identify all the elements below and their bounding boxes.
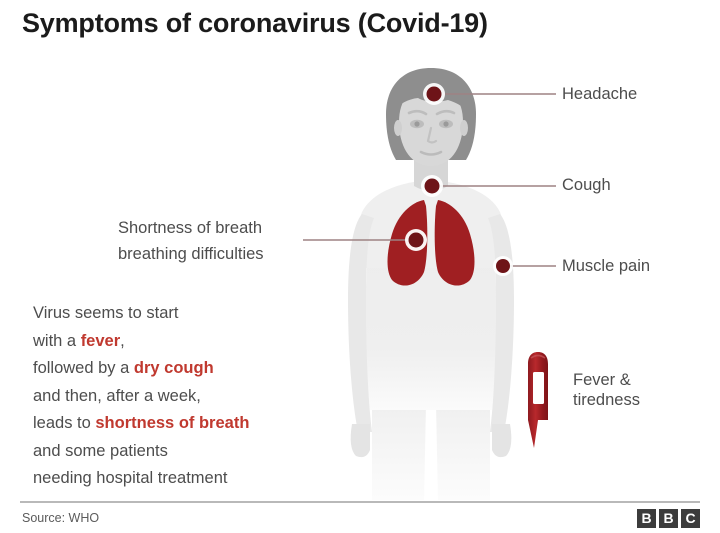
infographic-page: Symptoms of coronavirus (Covid-19) xyxy=(0,0,720,533)
thermometer-icon xyxy=(528,352,548,448)
marker-headache xyxy=(427,87,442,102)
bbc-logo: B B C xyxy=(637,509,700,528)
marker-shortness-of-breath xyxy=(409,233,424,248)
description-line-5: leads to shortness of breath xyxy=(33,410,249,438)
callout-label-muscle-pain: Muscle pain xyxy=(562,256,650,276)
footer-divider xyxy=(20,501,700,503)
callout-label-headache: Headache xyxy=(562,84,637,104)
bbc-logo-letter-1: B xyxy=(637,509,656,528)
description-line-2: with a fever, xyxy=(33,328,249,356)
description-text: Virus seems to start with a fever, follo… xyxy=(33,300,249,493)
text-fragment: with a xyxy=(33,332,81,350)
text-fragment: , xyxy=(120,332,125,350)
text-fragment: leads to xyxy=(33,414,95,432)
callout-label-cough: Cough xyxy=(562,175,611,195)
source-attribution: Source: WHO xyxy=(22,511,99,525)
description-line-6: and some patients xyxy=(33,438,249,466)
marker-muscle-pain xyxy=(496,259,510,273)
emphasis-dry-cough: dry cough xyxy=(134,359,214,377)
callout-label-shortness-of-breath: Shortness of breath breathing difficulti… xyxy=(118,215,264,267)
description-line-1: Virus seems to start xyxy=(33,300,249,328)
text-fragment: followed by a xyxy=(33,359,134,377)
description-line-3: followed by a dry cough xyxy=(33,355,249,383)
emphasis-fever: fever xyxy=(81,332,120,350)
callout-line-1: Shortness of breath xyxy=(118,215,264,241)
bbc-logo-letter-2: B xyxy=(659,509,678,528)
emphasis-shortness-of-breath: shortness of breath xyxy=(95,414,249,432)
callout-label-fever-tiredness: Fever & tiredness xyxy=(573,370,693,410)
description-line-7: needing hospital treatment xyxy=(33,465,249,493)
head xyxy=(386,68,476,166)
description-line-4: and then, after a week, xyxy=(33,383,249,411)
callout-line-1: Fever & xyxy=(573,370,693,390)
marker-cough xyxy=(425,179,440,194)
callout-line-2: tiredness xyxy=(573,390,693,410)
bbc-logo-letter-3: C xyxy=(681,509,700,528)
callout-line-2: breathing difficulties xyxy=(118,241,264,267)
